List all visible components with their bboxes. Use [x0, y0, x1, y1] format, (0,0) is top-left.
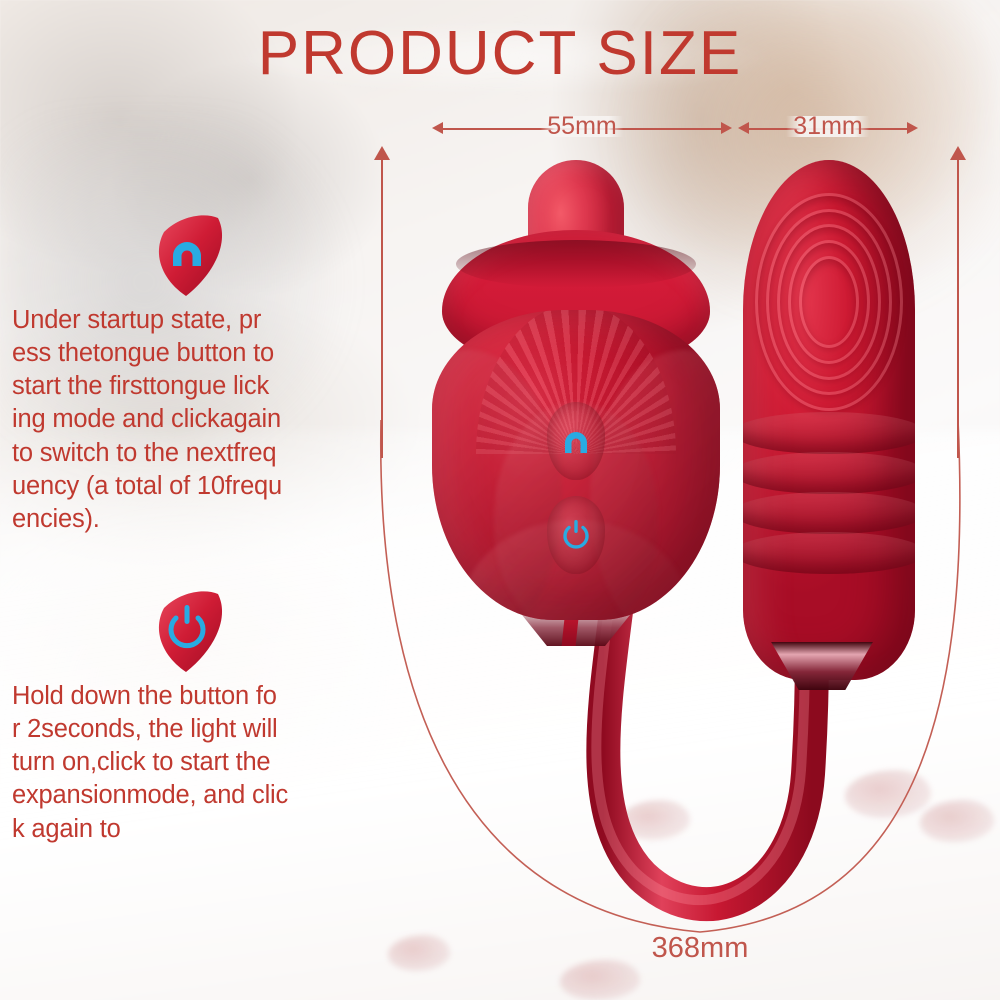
power-icon: [562, 520, 590, 550]
feature-expansion-mode: Hold down the button fo r 2seconds, the …: [12, 588, 392, 846]
bullet-product: [735, 160, 925, 720]
feature-tongue-mode-text: Under startup state, pr ess thetongue bu…: [12, 304, 392, 536]
tongue-mode-button[interactable]: [547, 402, 605, 480]
power-button[interactable]: [547, 496, 605, 574]
feature-icon-petal-tongue: [144, 212, 236, 304]
petal-shape: [159, 215, 222, 296]
feature-expansion-mode-text: Hold down the button fo r 2seconds, the …: [12, 680, 392, 846]
petal-shape: [159, 591, 222, 672]
bullet-rib-4: [743, 532, 915, 574]
bullet-ring-texture: [758, 194, 900, 409]
rose-petal-body: [432, 310, 720, 620]
bullet-rib-1: [743, 412, 915, 454]
bullet-rib-3: [743, 492, 915, 534]
bullet-ring-5: [799, 256, 859, 348]
feature-tongue-mode: Under startup state, pr ess thetongue bu…: [12, 212, 392, 536]
bullet-base-connector: [769, 642, 875, 690]
dimension-label-368mm: 368mm: [652, 932, 749, 965]
tongue-icon: [561, 428, 591, 454]
page-title: PRODUCT SIZE: [0, 18, 1000, 89]
rose-product: [420, 160, 730, 630]
bullet-body: [743, 160, 915, 680]
bullet-rib-2: [743, 452, 915, 494]
feature-icon-petal-power: [144, 588, 236, 680]
product-size-infographic: PRODUCT SIZE 55mm 31mm 368mm: [0, 0, 1000, 1000]
